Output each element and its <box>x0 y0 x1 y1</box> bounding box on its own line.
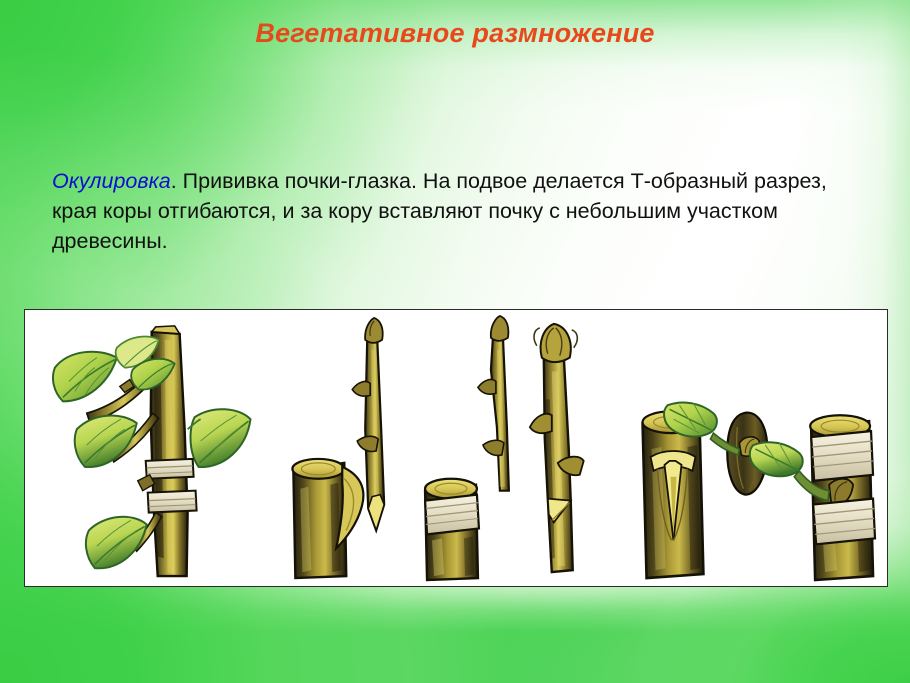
slide-title: Вегетативное размножение <box>0 18 910 49</box>
budding-diagram <box>25 310 887 586</box>
body-paragraph: Окулировка. Прививка почки-глазка. На по… <box>52 166 864 256</box>
illustration-panel <box>24 309 888 587</box>
binding-band <box>813 499 875 545</box>
binding-band <box>146 459 194 479</box>
binding-band <box>425 495 479 535</box>
binding-band <box>148 491 197 513</box>
term-okulirovka: Окулировка <box>52 169 171 193</box>
slide-canvas: Вегетативное размножение Окулировка. При… <box>0 0 910 683</box>
binding-band <box>811 431 873 481</box>
cut-surface <box>292 459 344 479</box>
